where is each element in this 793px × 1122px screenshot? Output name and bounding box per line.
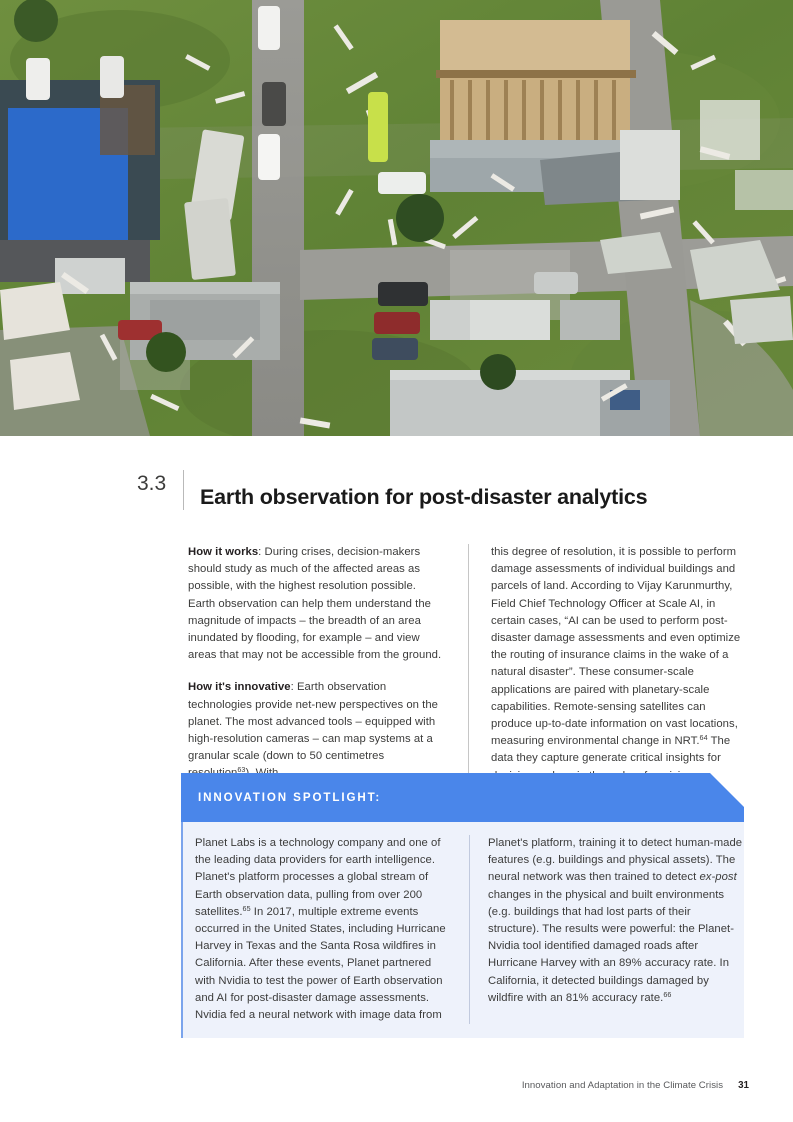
- footnote-ref-66: 66: [663, 990, 671, 999]
- page-title: Earth observation for post-disaster anal…: [200, 484, 647, 510]
- body-column-left: How it works: During crises, decision-ma…: [188, 544, 468, 785]
- paragraph-how-it-works: How it works: During crises, decision-ma…: [188, 544, 446, 664]
- right-structure: [430, 300, 620, 340]
- footnote-ref-65: 65: [243, 904, 251, 913]
- footnote-ref-64: 64: [700, 733, 708, 742]
- spotlight-left-text-b: In 2017, multiple extreme events occurre…: [195, 906, 446, 1021]
- article-body: How it works: During crises, decision-ma…: [188, 544, 750, 785]
- long-grey-roof-house: [390, 370, 670, 436]
- paragraph-continuation: this degree of resolution, it is possibl…: [491, 544, 749, 785]
- spotlight-header-banner: INNOVATION SPOTLIGHT:: [181, 773, 744, 822]
- paragraph-innovative-text-a: : Earth observation technologies provide…: [188, 681, 438, 779]
- spotlight-italic-term: ex-post: [699, 871, 736, 883]
- lead-in-how-its-innovative: How it's innovative: [188, 681, 291, 693]
- lead-in-how-it-works: How it works: [188, 546, 258, 558]
- section-heading: 3.3 Earth observation for post-disaster …: [0, 470, 793, 516]
- page-footer: Innovation and Adaptation in the Climate…: [0, 1077, 793, 1093]
- footer-title: Innovation and Adaptation in the Climate…: [522, 1080, 723, 1091]
- spotlight-column-left: Planet Labs is a technology company and …: [195, 835, 469, 1024]
- paragraph-how-it-works-text: : During crises, decision-makers should …: [188, 546, 441, 661]
- heading-divider: [183, 470, 184, 510]
- spotlight-body: Planet Labs is a technology company and …: [181, 822, 744, 1038]
- column-divider: [468, 544, 469, 785]
- hero-photo: [0, 0, 793, 436]
- paragraph-how-its-innovative: How it's innovative: Earth observation t…: [188, 679, 446, 782]
- spotlight-paragraph-right: Planet's platform, training it to detect…: [488, 835, 744, 1007]
- aerial-disaster-illustration: [0, 0, 793, 436]
- body-column-right: this degree of resolution, it is possibl…: [491, 544, 749, 785]
- footer-page-number: 31: [738, 1080, 749, 1091]
- innovation-spotlight-callout: INNOVATION SPOTLIGHT: Planet Labs is a t…: [181, 773, 744, 1038]
- spotlight-column-right: Planet's platform, training it to detect…: [488, 835, 744, 1024]
- spotlight-paragraph-left: Planet Labs is a technology company and …: [195, 835, 451, 1024]
- spotlight-right-text-b: changes in the physical and built enviro…: [488, 889, 734, 1004]
- spotlight-header-label: INNOVATION SPOTLIGHT:: [198, 791, 381, 804]
- spotlight-column-divider: [469, 835, 470, 1024]
- paragraph-continuation-text-a: this degree of resolution, it is possibl…: [491, 546, 740, 747]
- blue-tarp-house: [0, 80, 160, 294]
- section-number: 3.3: [137, 470, 183, 498]
